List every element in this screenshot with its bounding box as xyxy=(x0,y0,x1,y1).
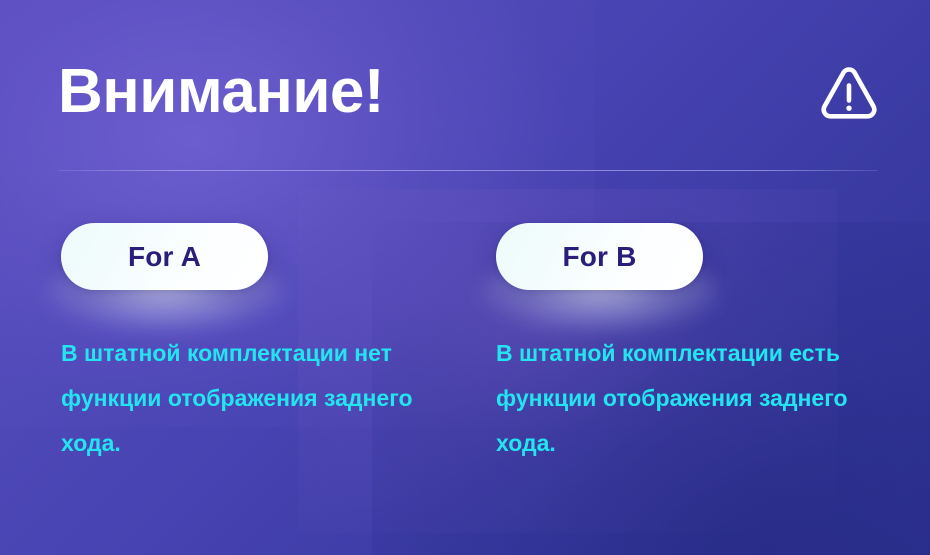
option-a-button[interactable]: For A xyxy=(61,223,268,290)
option-column-b: For B В штатной комплектации есть функци… xyxy=(496,223,916,290)
option-column-a: For A В штатной комплектации нет функции… xyxy=(61,223,481,290)
option-a-button-label: For A xyxy=(128,241,201,273)
header-divider xyxy=(58,170,878,171)
option-b-button-label: For B xyxy=(562,241,636,273)
warning-triangle-icon xyxy=(816,60,882,126)
option-b-button-wrap: For B xyxy=(496,223,703,290)
option-a-button-wrap: For A xyxy=(61,223,268,290)
page-title: Внимание! xyxy=(58,56,384,128)
slide-content: Внимание! For A В штатной комплектации н… xyxy=(0,0,930,555)
option-b-button[interactable]: For B xyxy=(496,223,703,290)
option-b-note: В штатной комплектации есть функции отоб… xyxy=(496,331,892,466)
warning-slide: Внимание! For A В штатной комплектации н… xyxy=(0,0,930,555)
option-a-note: В штатной комплектации нет функции отобр… xyxy=(61,331,453,466)
